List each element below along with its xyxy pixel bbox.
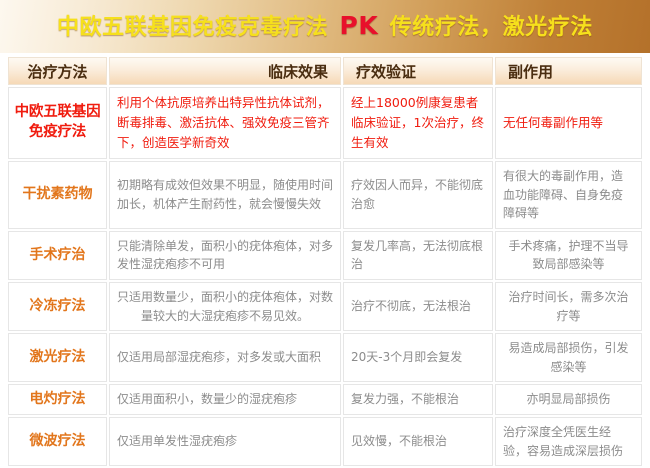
cell-verify: 见效慢，不能根治: [343, 417, 493, 466]
table-header-row: 治疗方法 临床效果 疗效验证 副作用: [8, 57, 642, 85]
cell-method: 激光疗法: [8, 333, 107, 382]
table-row: 电灼疗法 仅适用面积小，数量少的湿疣疱疹 复发力强，不能根治 亦明显局部损伤: [8, 384, 642, 415]
column-header-verify: 疗效验证: [343, 57, 493, 85]
cell-side: 有很大的毒副作用，造血功能障碍、自身免疫障碍等: [495, 161, 642, 229]
cell-method: 微波疗法: [8, 417, 107, 466]
cell-side: 无任何毒副作用等: [495, 87, 642, 159]
banner-title: 中欧五联基因免疫克毒疗法 PK 传统疗法，激光疗法: [57, 13, 593, 41]
cell-side: 亦明显局部损伤: [495, 384, 642, 415]
banner-title-pk: PK: [336, 11, 381, 40]
cell-clinical: 只能清除单发，面积小的疣体疱体，对多发性湿疣疱疹不可用: [109, 231, 341, 280]
cell-clinical: 仅适用单发性湿疣疱疹: [109, 417, 341, 466]
column-header-method: 治疗方法: [8, 57, 107, 85]
title-banner: 中欧五联基因免疫克毒疗法 PK 传统疗法，激光疗法: [0, 0, 650, 53]
cell-verify: 治疗不彻底，无法根治: [343, 282, 493, 331]
cell-clinical: 仅适用面积小，数量少的湿疣疱疹: [109, 384, 341, 415]
comparison-poster: 中欧五联基因免疫克毒疗法 PK 传统疗法，激光疗法 治疗方法 临床效果 疗效验证…: [0, 0, 650, 450]
cell-method: 冷冻疗法: [8, 282, 107, 331]
table-row: 微波疗法 仅适用单发性湿疣疱疹 见效慢，不能根治 治疗深度全凭医生经验，容易造成…: [8, 417, 642, 466]
table-row: 手术疗治 只能清除单发，面积小的疣体疱体，对多发性湿疣疱疹不可用 复发几率高，无…: [8, 231, 642, 280]
cell-method: 手术疗治: [8, 231, 107, 280]
table-head: 治疗方法 临床效果 疗效验证 副作用: [8, 57, 642, 85]
cell-verify: 疗效因人而异，不能彻底治愈: [343, 161, 493, 229]
cell-verify: 复发几率高，无法彻底根治: [343, 231, 493, 280]
table-row: 中欧五联基因免疫疗法 利用个体抗原培养出特异性抗体试剂，断毒排毒、激活抗体、强效…: [8, 87, 642, 159]
cell-clinical: 利用个体抗原培养出特异性抗体试剂，断毒排毒、激活抗体、强效免疫三管齐下，创造医学…: [109, 87, 341, 159]
cell-method: 干扰素药物: [8, 161, 107, 229]
cell-side: 手术疼痛，护理不当导致局部感染等: [495, 231, 642, 280]
banner-title-main: 中欧五联基因免疫克毒疗法: [57, 15, 328, 40]
comparison-table: 治疗方法 临床效果 疗效验证 副作用 中欧五联基因免疫疗法 利用个体抗原培养出特…: [6, 55, 644, 468]
table-body: 中欧五联基因免疫疗法 利用个体抗原培养出特异性抗体试剂，断毒排毒、激活抗体、强效…: [8, 87, 642, 466]
cell-method: 中欧五联基因免疫疗法: [8, 87, 107, 159]
cell-verify: 20天-3个月即会复发: [343, 333, 493, 382]
table-row: 干扰素药物 初期略有成效但效果不明显，随使用时间加长，机体产生耐药性，就会慢慢失…: [8, 161, 642, 229]
comparison-table-wrapper: 治疗方法 临床效果 疗效验证 副作用 中欧五联基因免疫疗法 利用个体抗原培养出特…: [0, 53, 650, 468]
column-header-side: 副作用: [495, 57, 642, 85]
cell-side: 治疗深度全凭医生经验，容易造成深层损伤: [495, 417, 642, 466]
column-header-clinical: 临床效果: [109, 57, 341, 85]
cell-verify: 经上18000例康复患者临床验证，1次治疗，终生有效: [343, 87, 493, 159]
cell-clinical: 只适用数量少，面积小的疣体疱体，对数量较大的大湿疣疱疹不易见效。: [109, 282, 341, 331]
cell-side: 易造成局部损伤，引发感染等: [495, 333, 642, 382]
cell-clinical: 仅适用局部湿疣疱疹，对多发或大面积: [109, 333, 341, 382]
cell-clinical: 初期略有成效但效果不明显，随使用时间加长，机体产生耐药性，就会慢慢失效: [109, 161, 341, 229]
cell-side: 治疗时间长，需多次治疗等: [495, 282, 642, 331]
banner-title-rest: 传统疗法，激光疗法: [390, 15, 593, 40]
table-row: 冷冻疗法 只适用数量少，面积小的疣体疱体，对数量较大的大湿疣疱疹不易见效。 治疗…: [8, 282, 642, 331]
cell-method: 电灼疗法: [8, 384, 107, 415]
table-row: 激光疗法 仅适用局部湿疣疱疹，对多发或大面积 20天-3个月即会复发 易造成局部…: [8, 333, 642, 382]
cell-verify: 复发力强，不能根治: [343, 384, 493, 415]
